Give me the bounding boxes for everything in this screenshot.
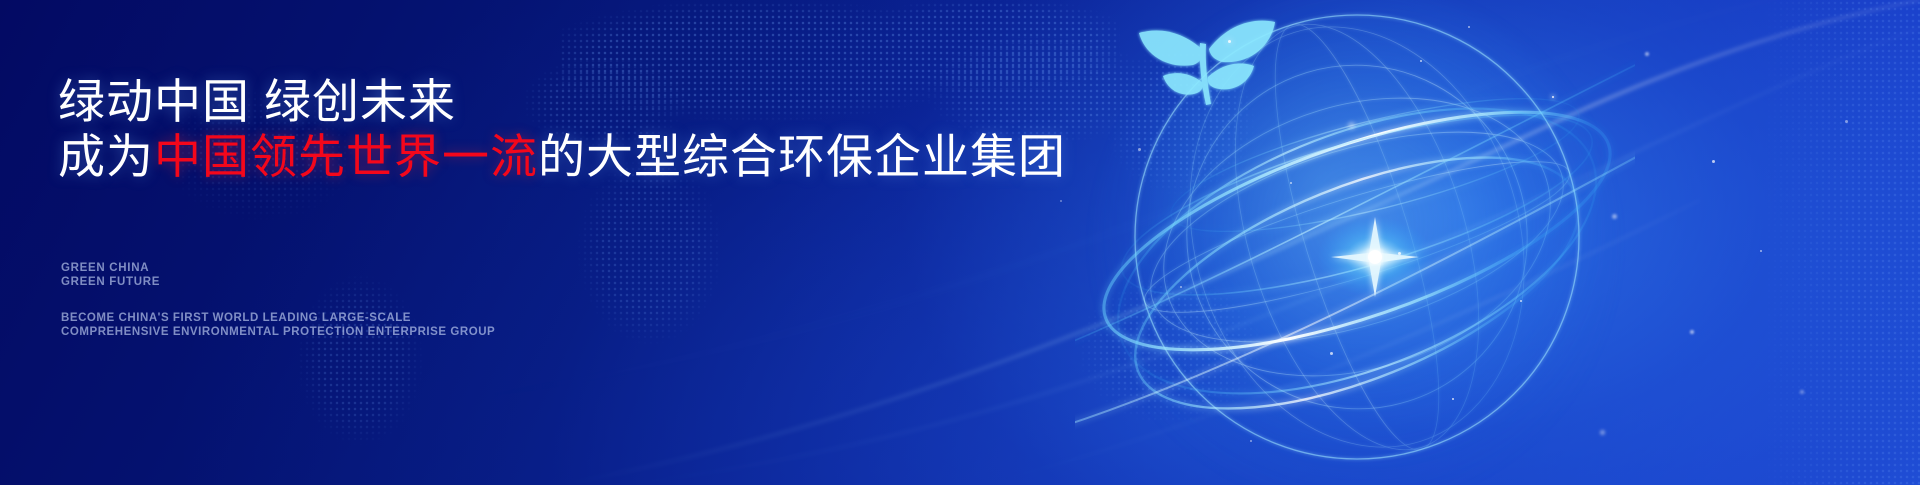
tagline-en-line-2: COMPREHENSIVE ENVIRONMENTAL PROTECTION E…	[61, 325, 495, 339]
particle	[1398, 252, 1401, 255]
sprout-leaf-icon	[1139, 21, 1275, 105]
headline-highlight: 中国领先世界一流	[154, 130, 538, 183]
globe-outer-arcs	[1075, 45, 1635, 435]
particle	[1690, 330, 1694, 334]
particle	[1180, 286, 1182, 288]
wireframe-globe-graphic	[1075, 0, 1635, 485]
map-continent-oceania	[1020, 230, 1320, 460]
tagline-en-line-1: BECOME CHINA'S FIRST WORLD LEADING LARGE…	[61, 311, 495, 325]
particle	[1420, 60, 1422, 62]
particle	[1552, 96, 1554, 98]
globe-sphere	[1135, 15, 1579, 459]
particle	[1348, 122, 1355, 129]
particle	[1600, 430, 1605, 435]
particle	[1330, 352, 1333, 355]
particle	[1612, 214, 1617, 219]
particle	[1645, 52, 1649, 56]
map-dots-right-edge	[1760, 0, 1920, 485]
particle	[1290, 182, 1292, 184]
subtitle-en-block: GREEN CHINA GREEN FUTURE	[61, 261, 160, 289]
subtitle-en-line-2: GREEN FUTURE	[61, 275, 160, 289]
tagline-en-block: BECOME CHINA'S FIRST WORLD LEADING LARGE…	[61, 311, 495, 339]
globe-glow	[1095, 0, 1615, 485]
particle	[1520, 300, 1522, 302]
particle	[1452, 398, 1454, 400]
particle	[1060, 200, 1062, 202]
particle	[1228, 40, 1231, 43]
hero-text-block: 绿动中国 绿创未来 成为中国领先世界一流的大型综合环保企业集团 GREEN CH…	[58, 0, 1058, 485]
particle	[1250, 440, 1252, 442]
headline-suffix: 的大型综合环保企业集团	[538, 130, 1066, 183]
headline-prefix: 成为	[58, 130, 154, 183]
headline-line-2: 成为中国领先世界一流的大型综合环保企业集团	[58, 133, 1066, 180]
particle	[1800, 390, 1804, 394]
particle	[1138, 148, 1141, 151]
headline-line-1: 绿动中国 绿创未来	[58, 78, 456, 125]
particle	[1845, 120, 1848, 123]
globe-latitude-lines	[1127, 23, 1588, 451]
globe-orbital-rings	[1077, 51, 1635, 461]
hero-banner: 绿动中国 绿创未来 成为中国领先世界一流的大型综合环保企业集团 GREEN CH…	[0, 0, 1920, 485]
subtitle-en-line-1: GREEN CHINA	[61, 261, 160, 275]
globe-longitude-lines	[1140, 0, 1575, 485]
particle	[1712, 160, 1715, 163]
particle	[1468, 26, 1470, 28]
globe-outline	[1135, 15, 1579, 459]
particle	[1760, 250, 1762, 252]
starburst-glow	[1317, 217, 1433, 297]
